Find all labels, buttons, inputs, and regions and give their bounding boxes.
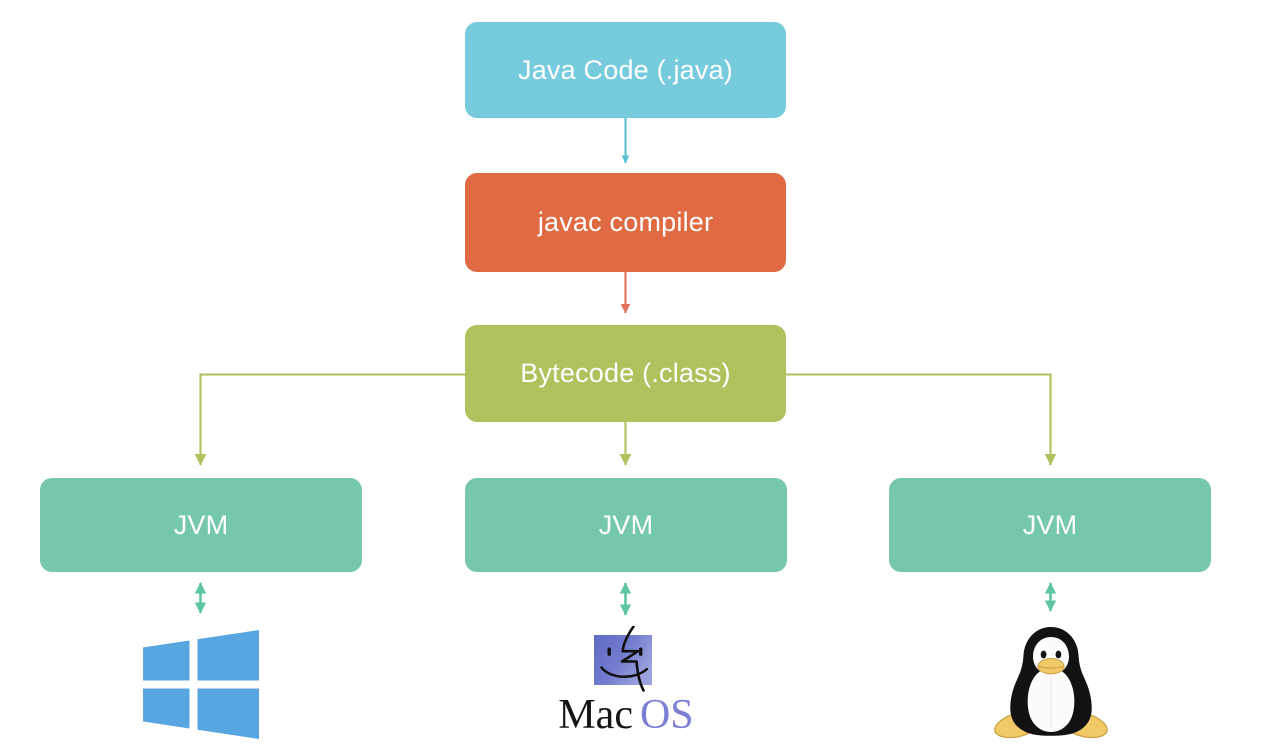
node-java-code[interactable]: Java Code (.java) xyxy=(465,22,786,118)
node-jvm-linux-label: JVM xyxy=(1023,512,1078,539)
platform-linux[interactable] xyxy=(985,620,1117,744)
diagram-canvas: Java Code (.java) javac compiler Bytecod… xyxy=(0,0,1280,745)
node-bytecode[interactable]: Bytecode (.class) xyxy=(465,325,786,422)
windows-logo-icon xyxy=(135,624,267,742)
node-jvm-macos-label: JVM xyxy=(599,512,654,539)
node-jvm-macos[interactable]: JVM xyxy=(465,478,787,572)
macos-wordmark-mac: Mac xyxy=(558,692,633,738)
macos-wordmark: MacOS xyxy=(558,694,693,736)
platform-macos[interactable]: MacOS xyxy=(560,626,692,744)
node-bytecode-label: Bytecode (.class) xyxy=(520,360,730,387)
node-java-code-label: Java Code (.java) xyxy=(518,57,733,84)
platform-windows[interactable] xyxy=(135,624,267,742)
connector-bytecode-to-jvm-linux xyxy=(786,375,1051,466)
node-javac-compiler[interactable]: javac compiler xyxy=(465,173,786,272)
macos-wordmark-os: OS xyxy=(640,692,694,738)
macos-finder-face-icon xyxy=(586,626,666,692)
node-jvm-windows-label: JVM xyxy=(174,512,229,539)
connector-bytecode-to-jvm-windows xyxy=(201,375,466,466)
node-jvm-linux[interactable]: JVM xyxy=(889,478,1211,572)
node-javac-compiler-label: javac compiler xyxy=(538,209,713,236)
linux-tux-penguin-icon xyxy=(985,620,1117,744)
node-jvm-windows[interactable]: JVM xyxy=(40,478,362,572)
